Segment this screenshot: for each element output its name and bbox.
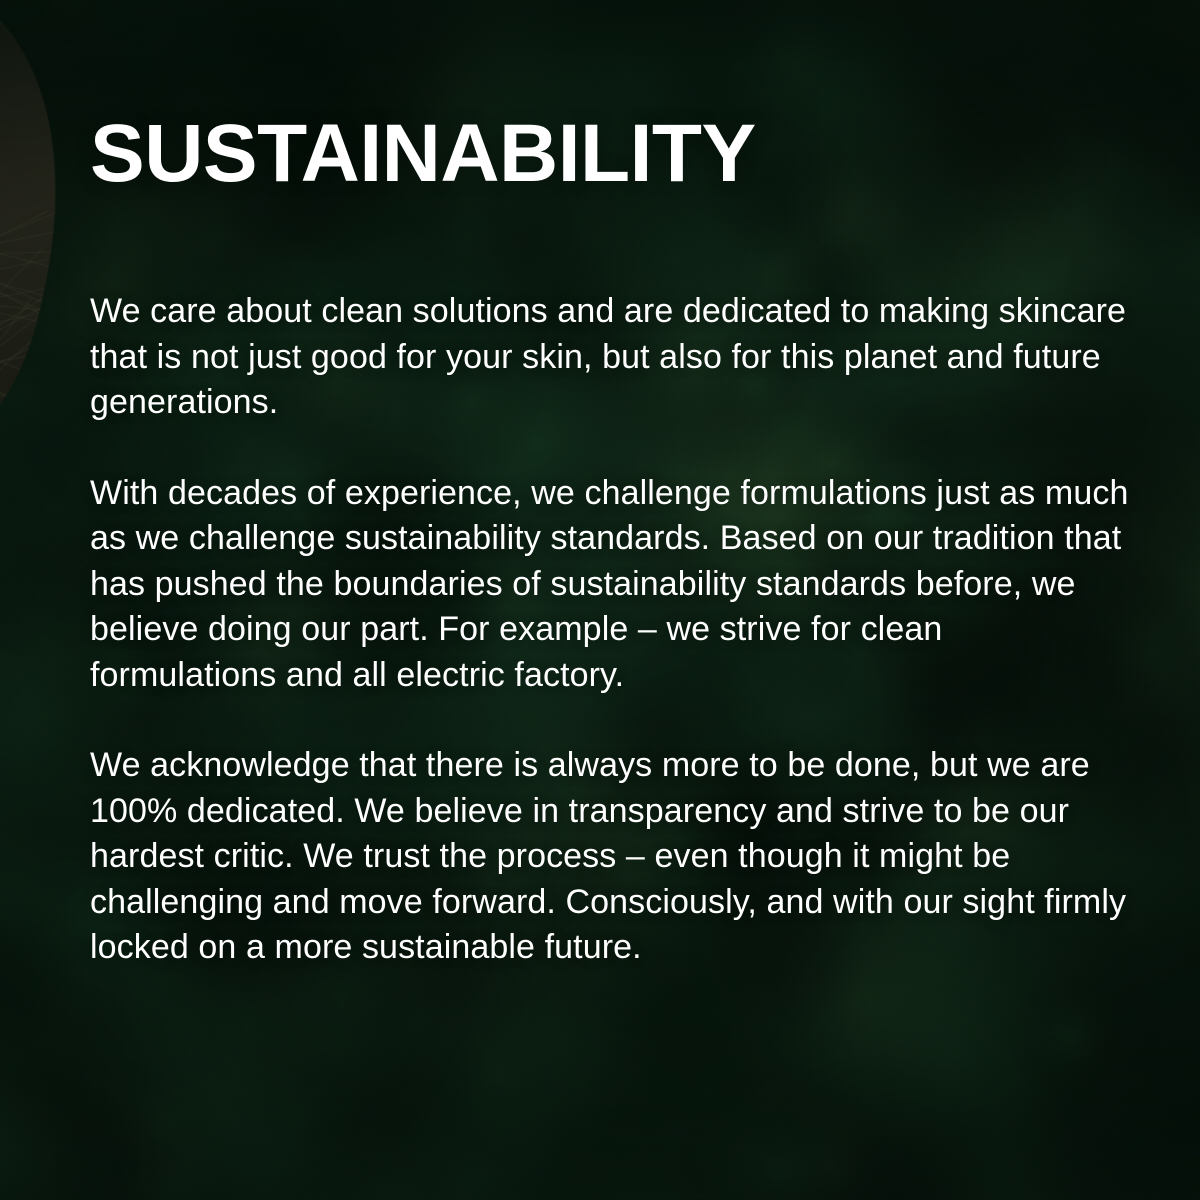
paragraph-3: We acknowledge that there is always more… [90,743,1135,971]
sustainability-page: SUSTAINABILITY We care about clean solut… [0,0,1200,1200]
paragraph-1: We care about clean solutions and are de… [90,289,1135,426]
paragraph-2: With decades of experience, we challenge… [90,471,1135,699]
content-block: SUSTAINABILITY We care about clean solut… [90,0,1150,1200]
page-title: SUSTAINABILITY [90,112,756,196]
body-copy: We care about clean solutions and are de… [90,289,1135,971]
